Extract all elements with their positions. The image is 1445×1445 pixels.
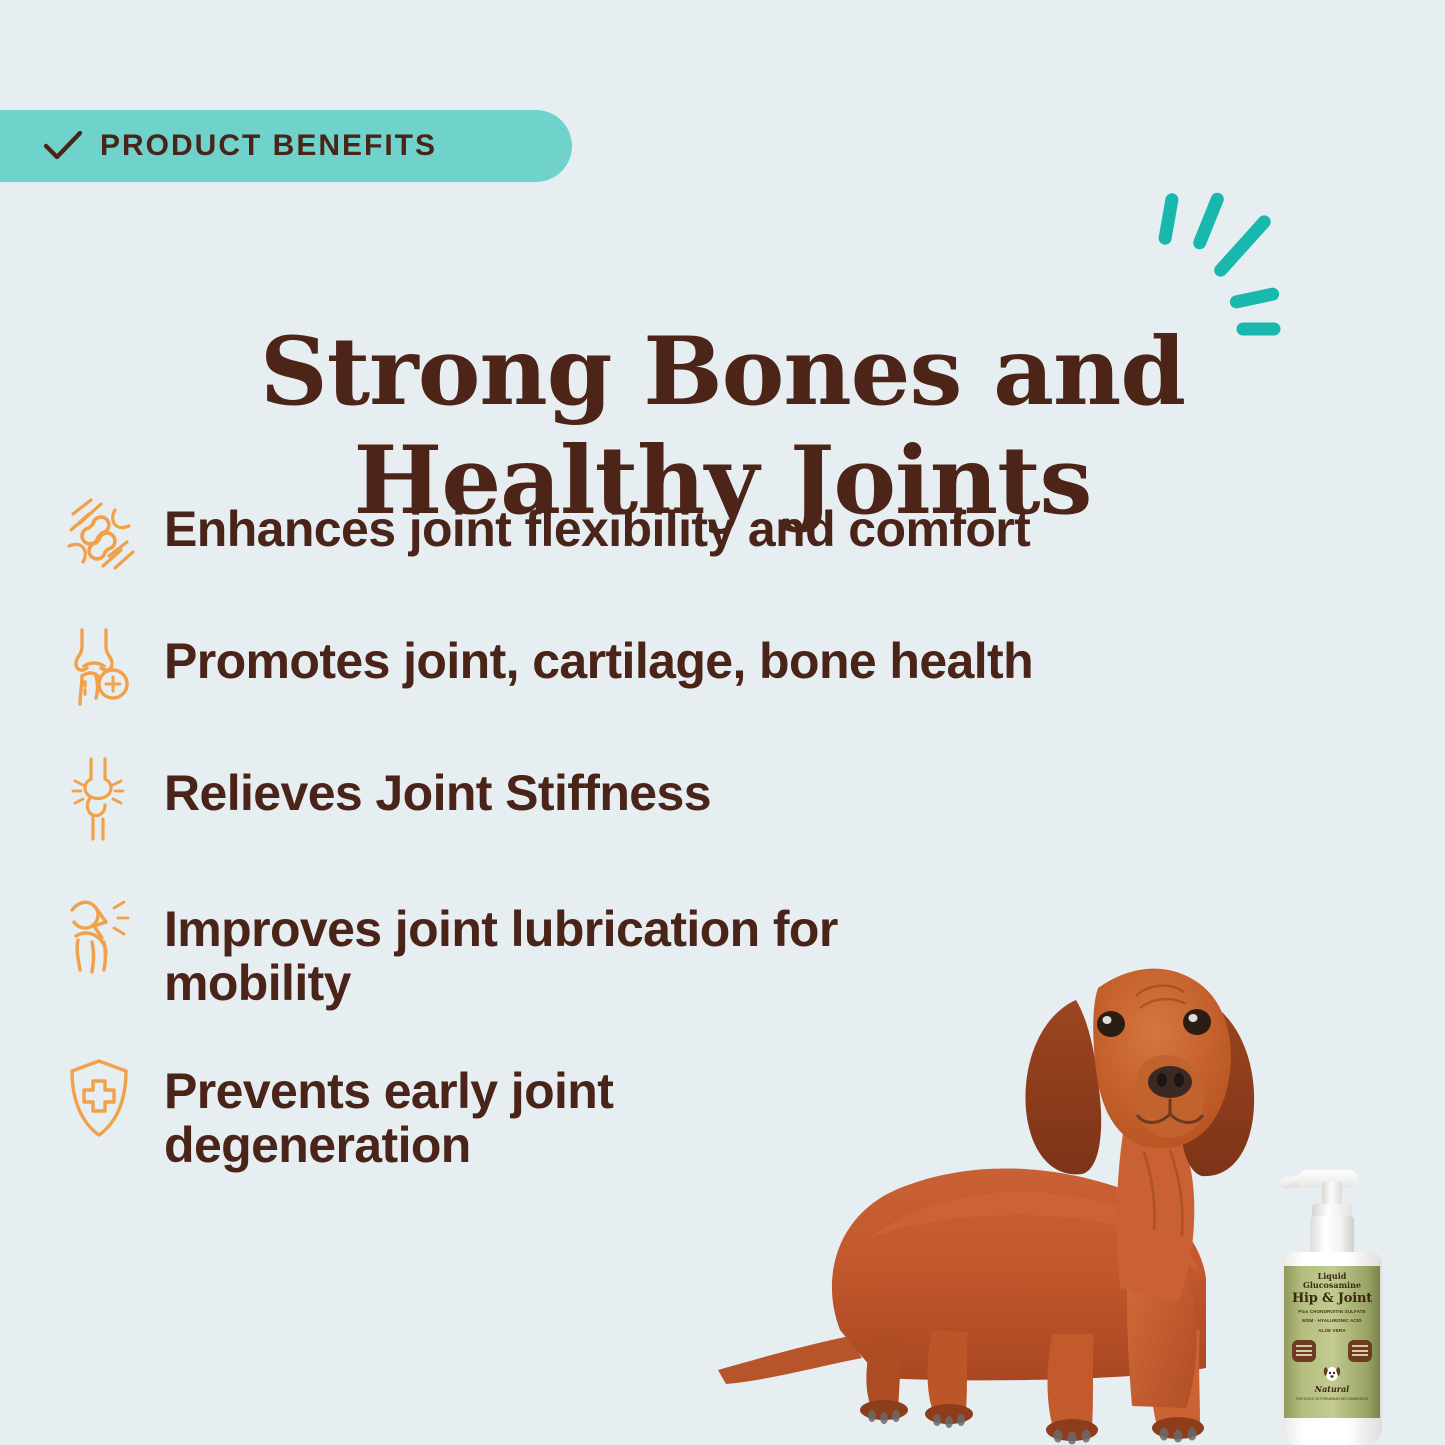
list-item: Relieves Joint Stiffness [60, 756, 1290, 852]
label-seals [1284, 1338, 1380, 1364]
label-line-glucosamine: Glucosamine [1303, 1281, 1361, 1290]
benefit-text: Promotes joint, cartilage, bone health [164, 624, 1033, 688]
bottle-neck [1310, 1216, 1354, 1256]
label-ingredient-3: ALOE VERA [1318, 1328, 1346, 1334]
label-ingredient-1: Plus CHONDROITIN SULFATE [1298, 1309, 1366, 1315]
label-footer: FOR DOGS VETERINARIAN RECOMMENDED [1296, 1397, 1368, 1401]
sparkle-burst-icon [1140, 185, 1305, 325]
seal-badge-left [1292, 1340, 1316, 1362]
label-ingredient-2: MSM · HYALURONIC ACID [1302, 1318, 1361, 1324]
product-bottle: Liquid Glucosamine Hip & Joint Plus CHON… [1272, 1168, 1392, 1445]
knee-cross-icon [60, 624, 138, 712]
list-item: Promotes joint, cartilage, bone health [60, 624, 1290, 720]
bottle-label: Liquid Glucosamine Hip & Joint Plus CHON… [1284, 1266, 1380, 1418]
dachshund-dog-image [700, 938, 1320, 1445]
spine-joint-icon [60, 756, 138, 844]
joint-flex-icon [60, 492, 138, 580]
infographic-canvas: PRODUCT BENEFITS Strong Bones and Health… [0, 0, 1445, 1445]
benefit-text: Relieves Joint Stiffness [164, 756, 711, 820]
benefit-text: Enhances joint flexibility and comfort [164, 492, 1030, 556]
benefit-text: Prevents early joint degeneration [164, 1054, 784, 1172]
headline-line-1: Strong Bones and [260, 317, 1185, 427]
label-product-name: Hip & Joint [1292, 1292, 1372, 1306]
label-brand: Natural [1315, 1384, 1349, 1394]
badge-label: PRODUCT BENEFITS [100, 129, 437, 163]
dog-logo-icon [1319, 1362, 1345, 1384]
list-item: Enhances joint flexibility and comfort [60, 492, 1290, 588]
check-icon [44, 131, 82, 161]
product-benefits-badge: PRODUCT BENEFITS [0, 110, 572, 182]
seal-badge-right [1348, 1340, 1372, 1362]
shield-cross-icon [60, 1054, 138, 1142]
knee-spark-icon [60, 892, 138, 980]
